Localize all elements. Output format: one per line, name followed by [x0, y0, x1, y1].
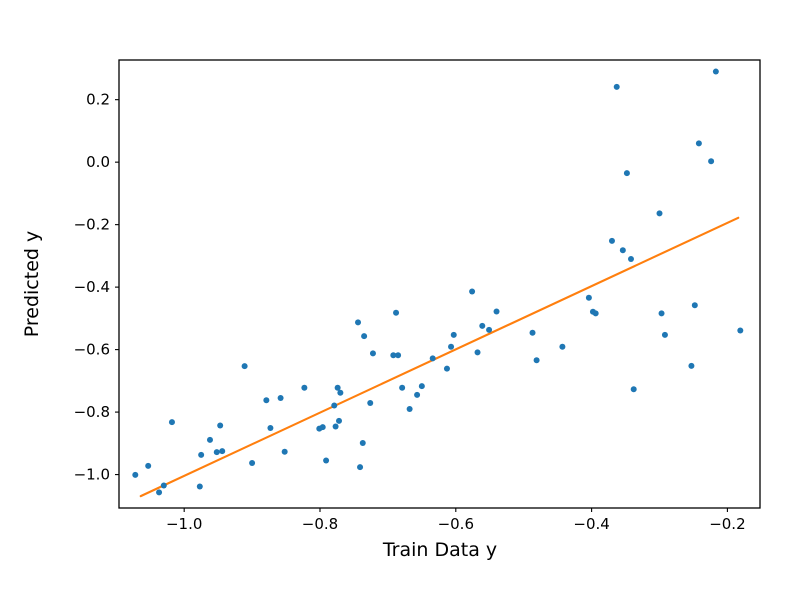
y-tick-label: −0.4: [74, 278, 110, 296]
scatter-point: [331, 403, 337, 409]
scatter-point: [219, 448, 225, 454]
scatter-point: [475, 349, 481, 355]
scatter-point: [614, 84, 620, 90]
scatter-point: [586, 295, 592, 301]
scatter-point: [451, 332, 457, 338]
scatter-point: [207, 437, 213, 443]
x-tick-label: −0.8: [302, 515, 338, 533]
scatter-point: [357, 464, 363, 470]
scatter-point: [337, 390, 343, 396]
scatter-point: [333, 423, 339, 429]
scatter-point: [696, 140, 702, 146]
scatter-point: [624, 170, 630, 176]
y-tick-label: −0.6: [74, 341, 110, 359]
scatter-point: [430, 355, 436, 361]
scatter-point: [367, 400, 373, 406]
y-tick-label: 0.0: [86, 153, 110, 171]
scatter-point: [217, 423, 223, 429]
scatter-point: [323, 458, 329, 464]
y-tick-label: −0.8: [74, 403, 110, 421]
y-axis-title: Predicted y: [21, 231, 43, 337]
scatter-point: [737, 328, 743, 334]
scatter-point: [395, 352, 401, 358]
scatter-point: [469, 288, 475, 294]
scatter-point: [360, 440, 366, 446]
scatter-point: [713, 69, 719, 75]
scatter-point: [336, 418, 342, 424]
scatter-point: [263, 397, 269, 403]
scatter-point: [399, 385, 405, 391]
scatter-point: [530, 330, 536, 336]
scatter-point: [278, 395, 284, 401]
y-tick-label: 0.2: [86, 91, 110, 109]
scatter-point: [214, 449, 220, 455]
scatter-point: [609, 238, 615, 244]
scatter-point: [708, 158, 714, 164]
scatter-point: [197, 483, 203, 489]
scatter-point: [145, 463, 151, 469]
scatter-point: [267, 425, 273, 431]
scatter-point: [249, 460, 255, 466]
scatter-point: [688, 363, 694, 369]
x-tick-label: −0.4: [573, 515, 609, 533]
scatter-point: [659, 310, 665, 316]
x-tick-label: −1.0: [166, 515, 202, 533]
scatter-point: [169, 419, 175, 425]
figure-background: [0, 0, 800, 600]
scatter-point: [320, 424, 326, 430]
scatter-point: [161, 483, 167, 489]
x-tick-label: −0.6: [438, 515, 474, 533]
scatter-point: [444, 366, 450, 372]
scatter-point: [479, 323, 485, 329]
scatter-point: [662, 332, 668, 338]
x-tick-label: −0.2: [709, 515, 745, 533]
scatter-point: [559, 344, 565, 350]
scatter-point: [448, 344, 454, 350]
y-tick-label: −0.2: [74, 216, 110, 234]
scatter-point: [132, 472, 138, 478]
scatter-point: [393, 310, 399, 316]
figure-canvas: −1.0−0.8−0.6−0.4−0.20.20.0−0.2−0.4−0.6−0…: [0, 0, 800, 600]
scatter-point: [628, 256, 634, 262]
scatter-point: [494, 308, 500, 314]
scatter-point: [156, 489, 162, 495]
scatter-point: [198, 452, 204, 458]
scatter-point: [282, 449, 288, 455]
scatter-point: [593, 310, 599, 316]
scatter-point: [534, 357, 540, 363]
scatter-point: [657, 210, 663, 216]
scatter-point: [355, 319, 361, 325]
y-tick-label: −1.0: [74, 466, 110, 484]
scatter-point: [242, 363, 248, 369]
scatter-plot: −1.0−0.8−0.6−0.4−0.20.20.0−0.2−0.4−0.6−0…: [0, 0, 800, 600]
scatter-point: [486, 327, 492, 333]
scatter-point: [301, 385, 307, 391]
scatter-point: [692, 302, 698, 308]
scatter-point: [361, 333, 367, 339]
scatter-point: [370, 350, 376, 356]
scatter-point: [419, 383, 425, 389]
scatter-point: [620, 247, 626, 253]
scatter-point: [631, 386, 637, 392]
scatter-point: [414, 392, 420, 398]
scatter-point: [407, 406, 413, 412]
x-axis-title: Train Data y: [382, 539, 497, 561]
